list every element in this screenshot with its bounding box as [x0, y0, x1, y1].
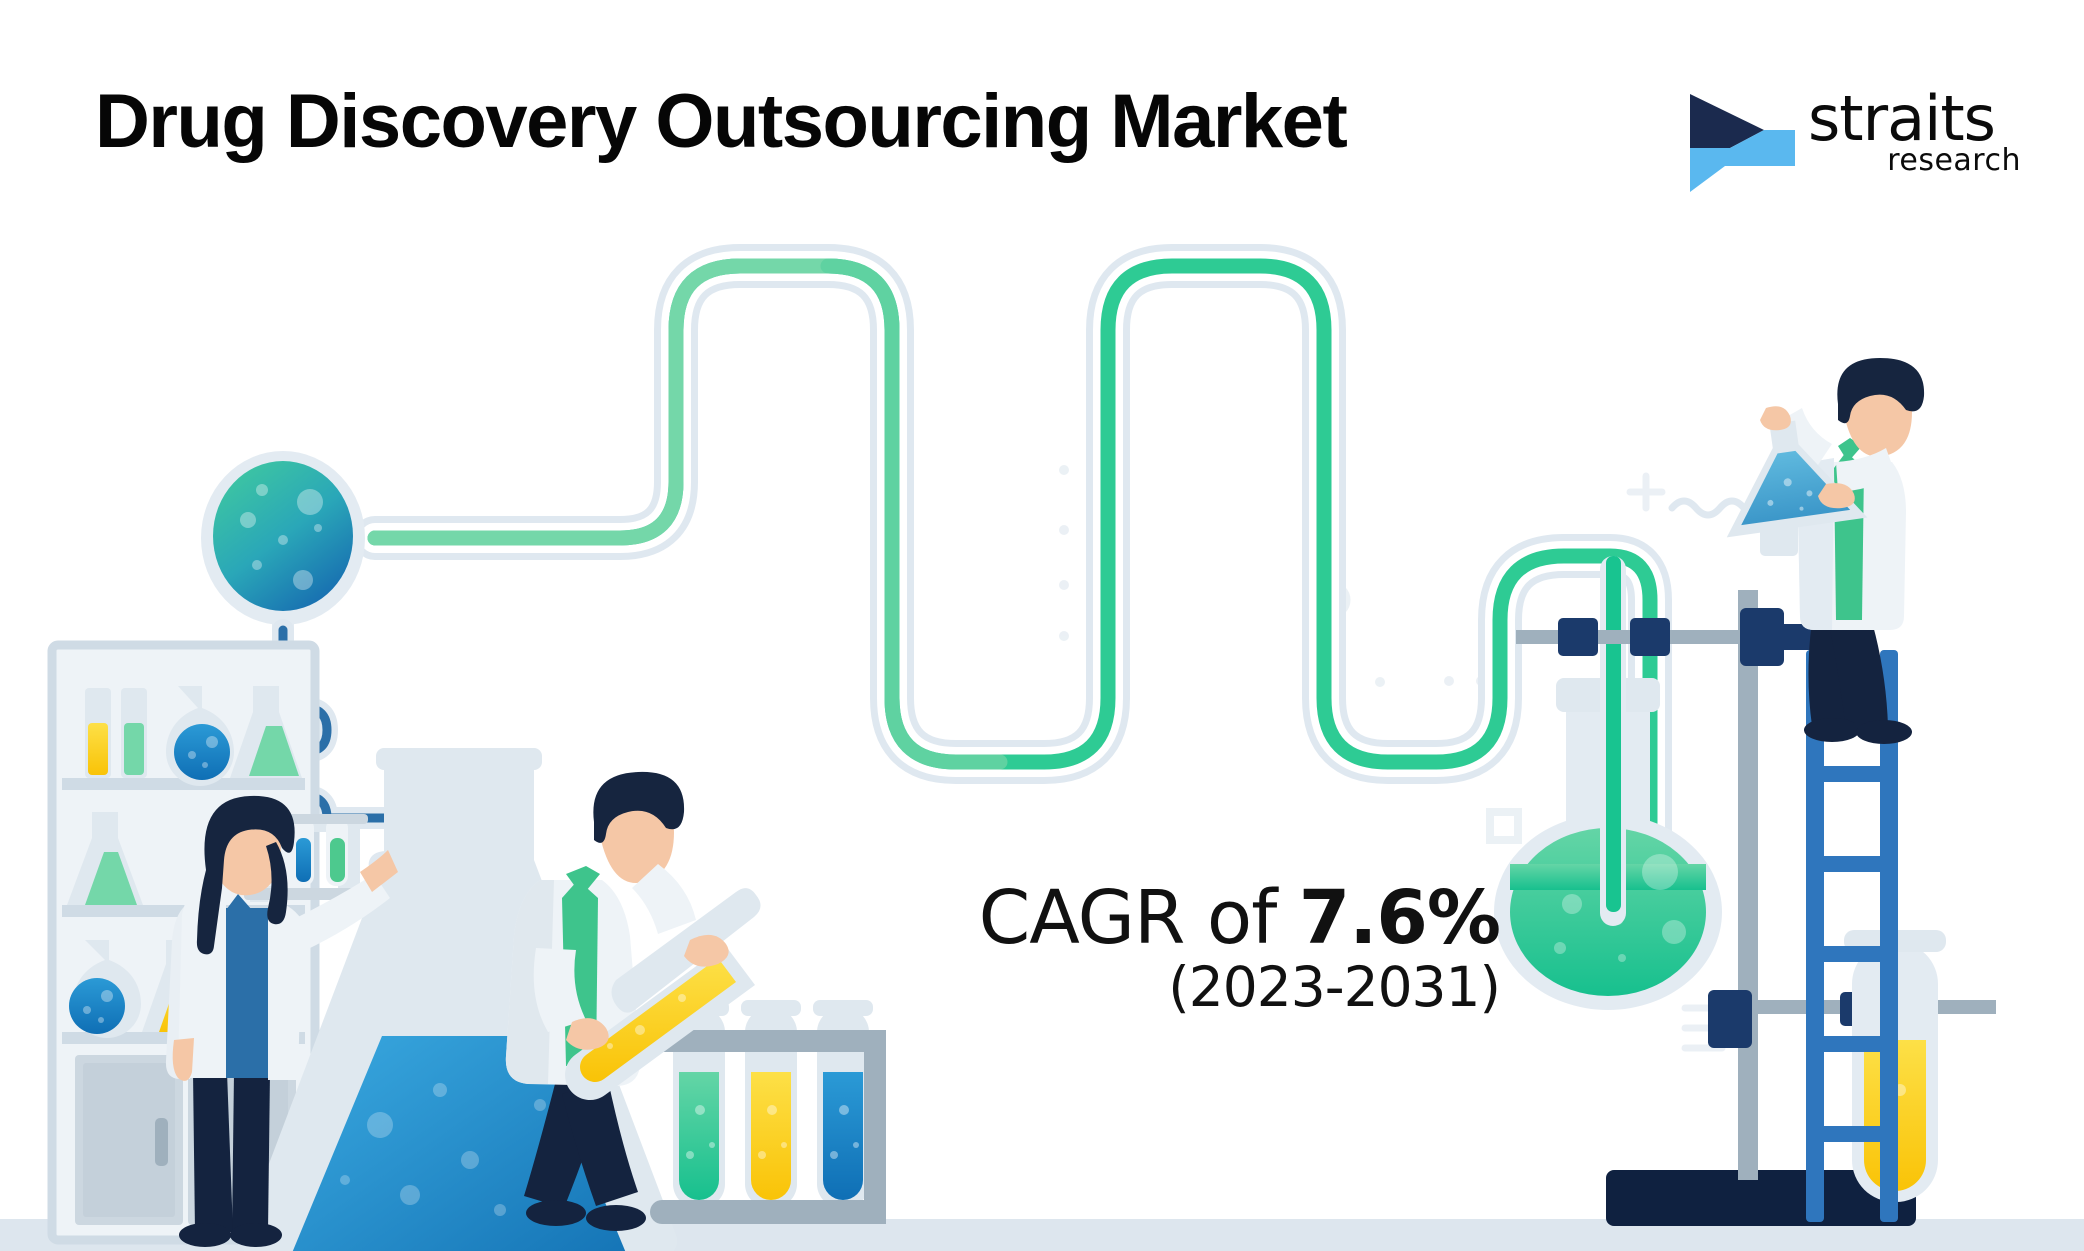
cagr-headline: CAGR of 7.6%: [870, 880, 1500, 957]
straits-logo-mark: [1690, 88, 1795, 198]
page-title: Drug Discovery Outsourcing Market: [95, 78, 1495, 166]
cagr-stat: CAGR of 7.6% (2023-2031): [870, 880, 1500, 1019]
balloon-flask: [201, 451, 365, 632]
cagr-prefix: CAGR of: [979, 875, 1299, 961]
logo[interactable]: straits research: [1690, 70, 2020, 200]
cagr-period: (2023-2031): [870, 957, 1500, 1019]
infographic-canvas: Drug Discovery Outsourcing Market strait…: [0, 0, 2084, 1251]
logo-wordmark: straits research: [1808, 80, 2023, 200]
cagr-value: 7.6%: [1299, 875, 1500, 961]
round-bottom-flask: [1494, 556, 1722, 1010]
logo-subbrand-text: research: [1887, 146, 2021, 176]
logo-brand-text: straits: [1808, 88, 1995, 150]
